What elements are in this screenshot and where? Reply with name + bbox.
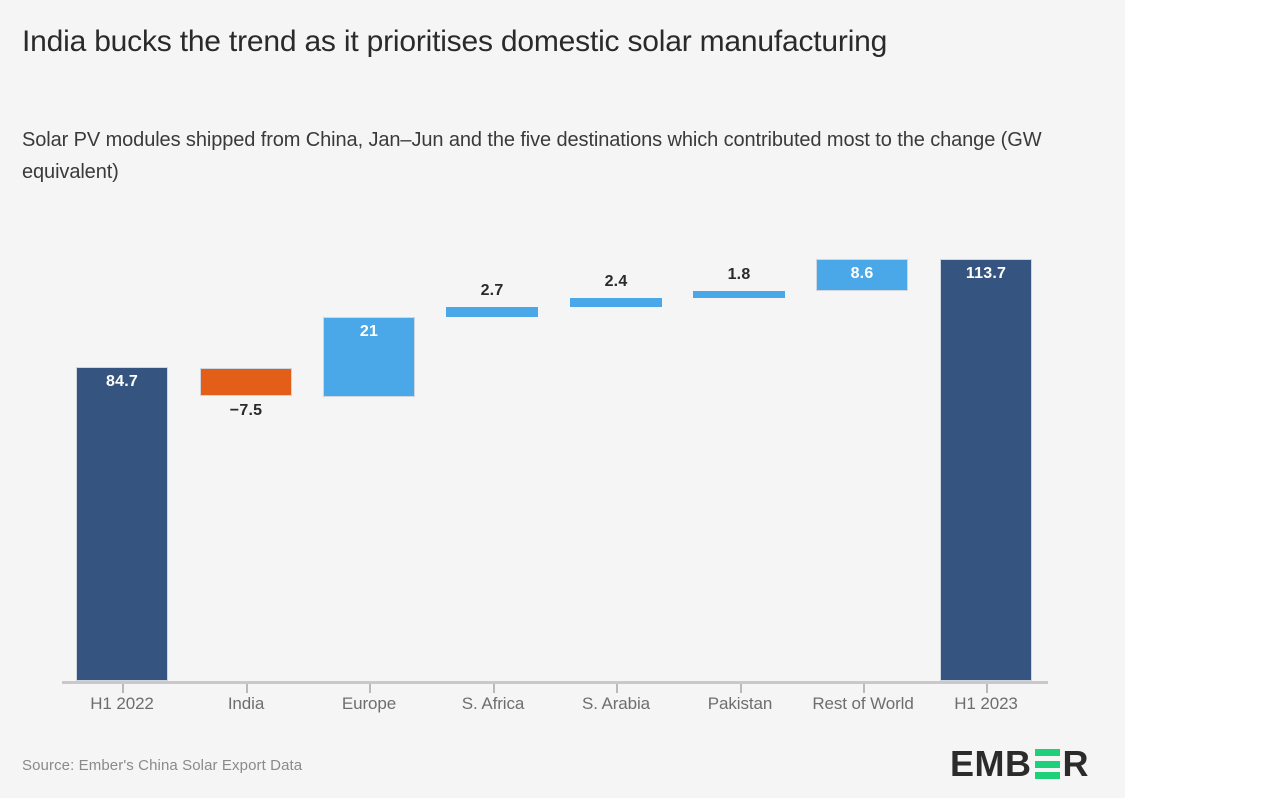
bar-s-arabia[interactable]: 2.4 bbox=[570, 298, 662, 307]
logo-text-r: R bbox=[1063, 746, 1090, 782]
bar-h1-2022[interactable]: 84.7 bbox=[76, 367, 168, 681]
bar-h1-2023[interactable]: 113.7 bbox=[940, 259, 1032, 681]
x-axis-label-rest-of-world: Rest of World bbox=[812, 694, 913, 714]
x-axis-tick bbox=[246, 684, 248, 693]
bar-rect bbox=[940, 259, 1032, 681]
logo-green-e-icon bbox=[1035, 749, 1060, 779]
bar-rect bbox=[446, 307, 538, 317]
bar-value-label: 1.8 bbox=[693, 266, 785, 284]
x-axis-tick bbox=[740, 684, 742, 693]
bar-value-label: −7.5 bbox=[200, 402, 292, 420]
bar-rest-of-world[interactable]: 8.6 bbox=[816, 259, 908, 291]
x-axis-tick bbox=[493, 684, 495, 693]
bar-value-label: 84.7 bbox=[76, 373, 168, 391]
bar-value-label: 2.4 bbox=[570, 273, 662, 291]
bar-value-label: 2.7 bbox=[446, 282, 538, 300]
ember-logo: EMB R bbox=[950, 744, 1089, 784]
x-axis-tick bbox=[863, 684, 865, 693]
bar-rect bbox=[200, 368, 292, 396]
x-axis-label-pakistan: Pakistan bbox=[708, 694, 772, 714]
waterfall-plot: 84.7−7.5212.72.41.88.6113.7 H1 2022India… bbox=[0, 0, 1125, 798]
bar-pakistan[interactable]: 1.8 bbox=[693, 291, 785, 298]
bar-india[interactable]: −7.5 bbox=[200, 368, 292, 396]
bar-value-label: 8.6 bbox=[816, 265, 908, 283]
x-axis-tick bbox=[369, 684, 371, 693]
x-axis-tick bbox=[616, 684, 618, 693]
x-axis-tick bbox=[986, 684, 988, 693]
x-axis-label-s-africa: S. Africa bbox=[462, 694, 524, 714]
bar-rect bbox=[570, 298, 662, 307]
bar-rect bbox=[76, 367, 168, 681]
x-axis-label-h1-2022: H1 2022 bbox=[90, 694, 154, 714]
bar-rect bbox=[693, 291, 785, 298]
bar-value-label: 21 bbox=[323, 323, 415, 341]
bar-value-label: 113.7 bbox=[940, 265, 1032, 283]
x-axis-label-h1-2023: H1 2023 bbox=[954, 694, 1018, 714]
source-note: Source: Ember's China Solar Export Data bbox=[22, 757, 302, 774]
chart-card: India bucks the trend as it prioritises … bbox=[0, 0, 1125, 798]
bar-s-africa[interactable]: 2.7 bbox=[446, 307, 538, 317]
logo-text-emb: EMB bbox=[950, 746, 1032, 782]
bar-europe[interactable]: 21 bbox=[323, 317, 415, 397]
x-axis-label-europe: Europe bbox=[342, 694, 396, 714]
x-axis-label-india: India bbox=[228, 694, 264, 714]
x-axis-line bbox=[62, 681, 1048, 684]
x-axis-tick bbox=[122, 684, 124, 693]
x-axis-label-s-arabia: S. Arabia bbox=[582, 694, 650, 714]
